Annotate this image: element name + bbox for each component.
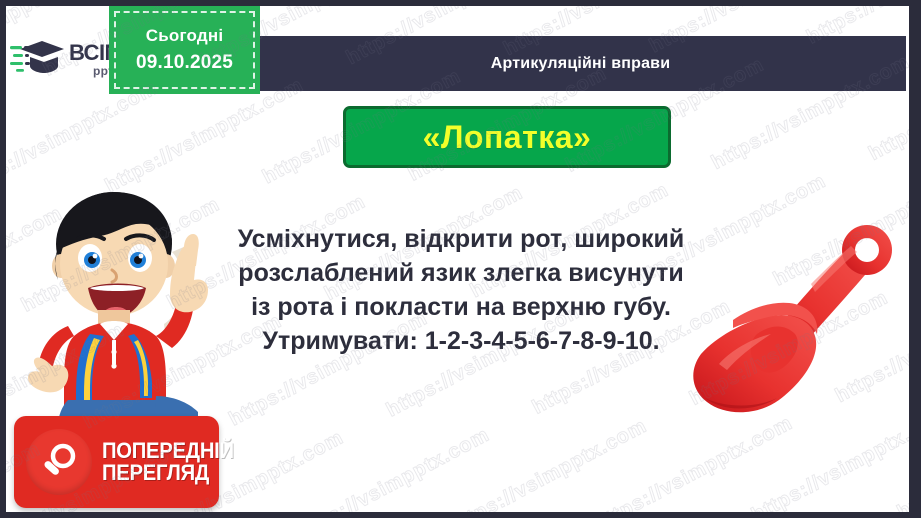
- today-badge: Сьогодні 09.10.2025: [109, 6, 260, 94]
- slide-canvas: https://vsimpptx.comhttps://vsimpptx.com…: [6, 6, 909, 512]
- cartoon-boy-illustration: [14, 184, 234, 429]
- red-toy-shovel-illustration: [661, 224, 909, 424]
- header-bar: Артикуляційні вправи: [255, 36, 906, 91]
- graduation-cap-icon: [10, 36, 68, 82]
- watermark-text: https://vsimpptx.com: [445, 415, 651, 512]
- preview-badge-labels: ПОПЕРЕДНІЙ ПЕРЕГЛЯД: [102, 440, 245, 485]
- today-date: 09.10.2025: [136, 52, 233, 74]
- exercise-title: «Лопатка»: [423, 119, 592, 156]
- watermark-text: https://vsimpptx.com: [6, 77, 161, 200]
- page-title: Артикуляційні вправи: [255, 36, 906, 91]
- magnifier-icon: [39, 442, 79, 482]
- preview-badge-line1: ПОПЕРЕДНІЙ: [102, 440, 234, 462]
- watermark-text: https://vsimpptx.com: [591, 412, 797, 512]
- slide-frame: https://vsimpptx.comhttps://vsimpptx.com…: [0, 0, 921, 518]
- today-label: Сьогодні: [146, 26, 224, 46]
- instruction-text: Усміхнутися, відкрити рот, широкий розсл…: [228, 222, 694, 358]
- preview-badge-line2: ПЕРЕГЛЯД: [102, 462, 234, 484]
- watermark-row: https://vsimpptx.comhttps://vsimpptx.com…: [149, 468, 909, 512]
- preview-badge[interactable]: ПОПЕРЕДНІЙ ПЕРЕГЛЯД: [14, 416, 219, 508]
- today-badge-content: Сьогодні 09.10.2025: [109, 6, 260, 94]
- brand-logo[interactable]: ВСІМ pptx: [6, 28, 126, 90]
- watermark-text: https://vsimpptx.com: [288, 424, 494, 512]
- exercise-title-plate: «Лопатка»: [343, 106, 671, 168]
- magnifier-icon-circle: [26, 429, 92, 495]
